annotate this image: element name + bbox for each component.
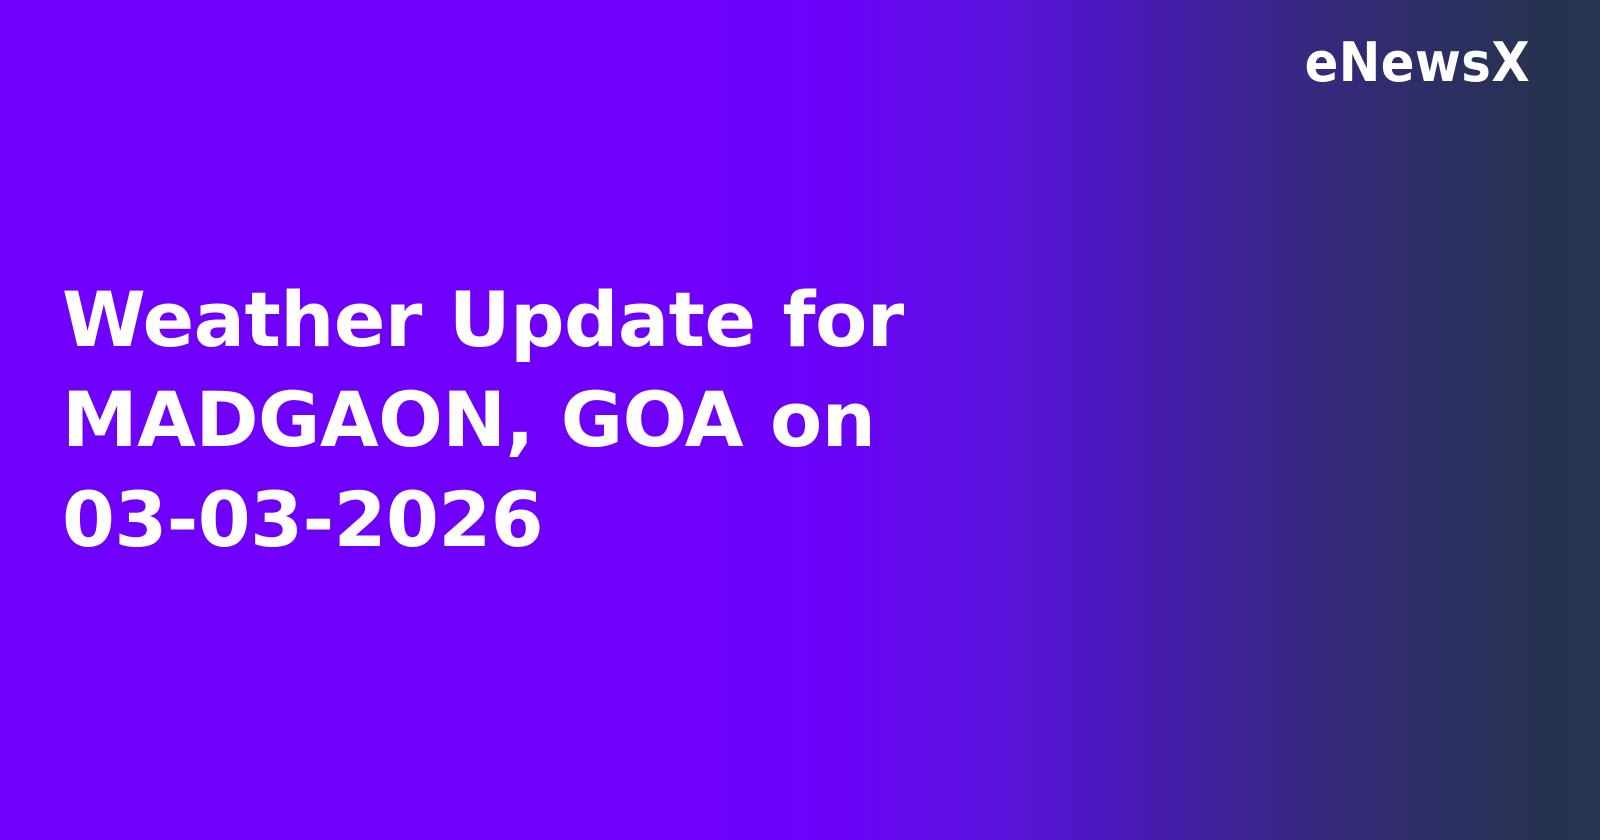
- enewsx-wordmark-icon: eNewsX: [1304, 36, 1530, 90]
- weather-update-banner: eNewsX Weather Update for MADGAON, GOA o…: [0, 0, 1600, 840]
- brand-logo[interactable]: eNewsX: [1285, 36, 1530, 90]
- page-title: Weather Update for MADGAON, GOA on 03-03…: [62, 270, 1012, 570]
- headline-container: Weather Update for MADGAON, GOA on 03-03…: [62, 0, 1042, 840]
